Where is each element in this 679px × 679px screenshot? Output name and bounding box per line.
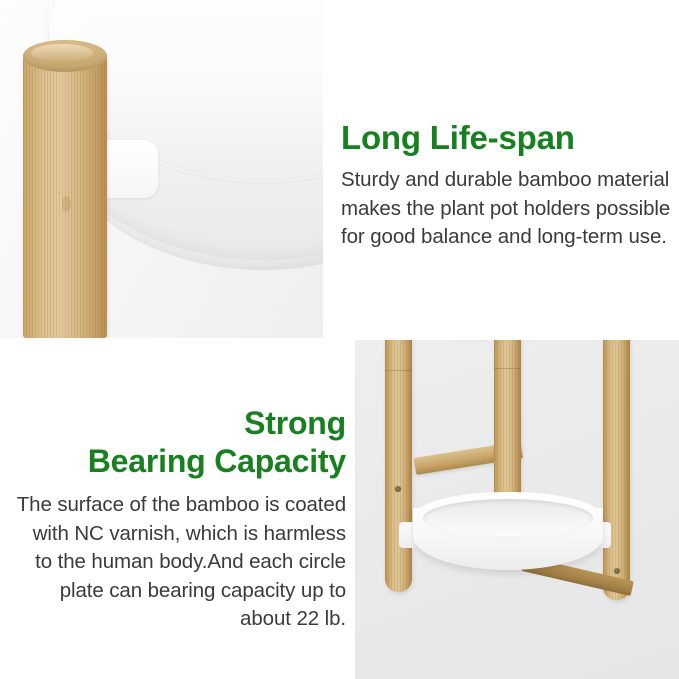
bamboo-joint-seam-left: [385, 370, 412, 371]
feature-heading-long-life-span: Long Life-span: [341, 118, 671, 157]
feature-body-long-life-span: Sturdy and durable bamboo material makes…: [341, 166, 671, 252]
bamboo-leg-right: [603, 340, 630, 600]
product-photo-full-stand: [355, 340, 679, 679]
heading-line: Bearing Capacity: [6, 442, 346, 480]
body-line: about 22 lb.: [6, 605, 346, 634]
body-line: to the human body.And each circle: [6, 548, 346, 577]
body-line: The surface of the bamboo is coated: [6, 491, 346, 520]
bamboo-leg-left: [385, 340, 412, 592]
bamboo-grain-knot: [62, 196, 71, 212]
feature-block-long-life-span: Long Life-span Sturdy and durable bamboo…: [341, 118, 671, 252]
infographic-canvas: Long Life-span Sturdy and durable bamboo…: [0, 0, 679, 679]
feature-body-bearing-capacity: The surface of the bamboo is coated with…: [6, 491, 346, 634]
body-line: Sturdy and durable bamboo material: [341, 166, 671, 195]
product-photo-leg-closeup: [0, 0, 323, 338]
screw-head-left: [395, 486, 401, 492]
body-line: makes the plant pot holders possible: [341, 195, 671, 224]
screw-head-right: [614, 568, 620, 574]
white-tray-inner-cavity: [423, 499, 593, 537]
body-line: plate can bearing capacity up to: [6, 577, 346, 606]
bamboo-joint-seam-center: [494, 368, 521, 369]
heading-line: Strong: [6, 404, 346, 442]
body-line: with NC varnish, which is harmless: [6, 520, 346, 549]
bamboo-leg-top-highlight: [31, 44, 93, 62]
feature-heading-bearing-capacity: Strong Bearing Capacity: [6, 404, 346, 480]
feature-block-bearing-capacity: Strong Bearing Capacity The surface of t…: [6, 404, 346, 634]
body-line: for good balance and long-term use.: [341, 223, 671, 252]
